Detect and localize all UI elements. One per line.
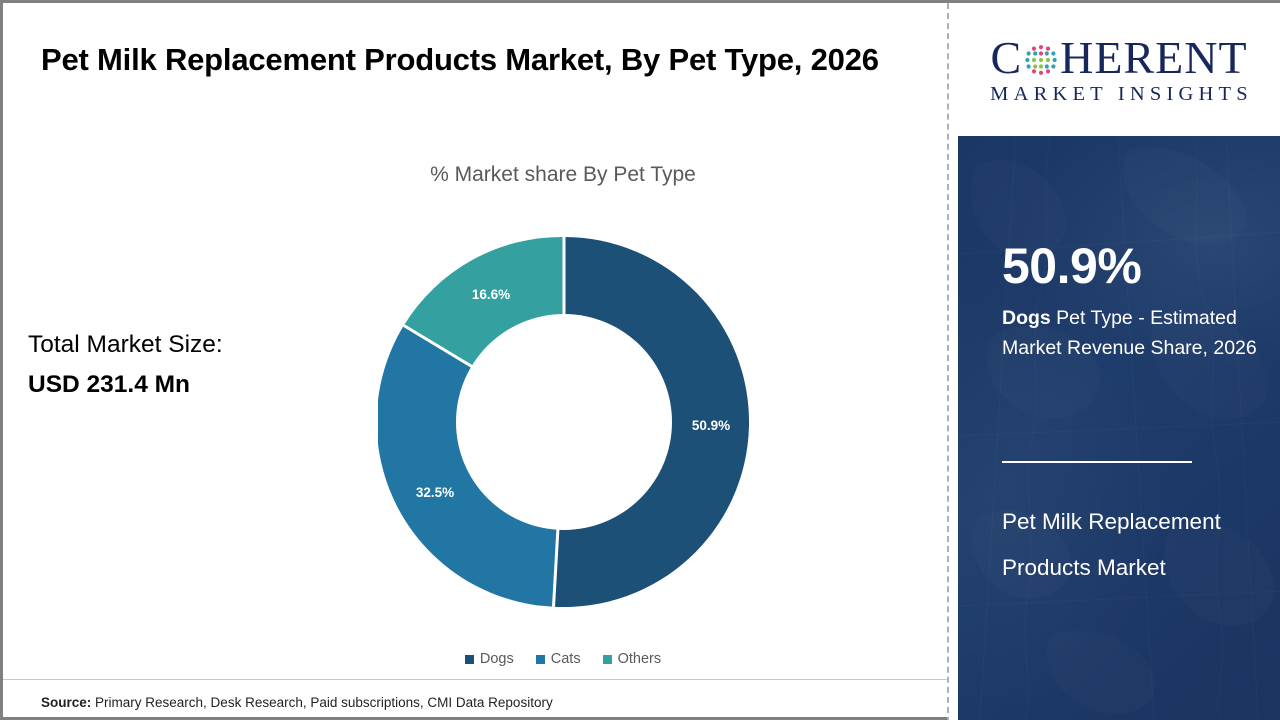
donut-chart: 50.9% 32.5% 16.6% bbox=[378, 235, 750, 609]
dotted-globe-icon bbox=[1023, 42, 1059, 78]
highlight-panel: 50.9% Dogs Pet Type - Estimated Market R… bbox=[958, 136, 1280, 720]
donut-chart-svg: 50.9% 32.5% 16.6% bbox=[378, 235, 750, 609]
chart-pane: Pet Milk Replacement Products Market, By… bbox=[3, 3, 947, 720]
legend-swatch-icon bbox=[536, 655, 545, 664]
page-title: Pet Milk Replacement Products Market, By… bbox=[41, 35, 901, 85]
footer-divider bbox=[3, 679, 947, 680]
chart-subtitle: % Market share By Pet Type bbox=[293, 163, 833, 187]
total-market-size-block: Total Market Size: USD 231.4 Mn bbox=[28, 325, 358, 404]
donut-center-hole bbox=[456, 314, 672, 530]
legend-label-others: Others bbox=[618, 651, 662, 667]
source-label: Source: bbox=[41, 695, 91, 710]
stat-description: Dogs Pet Type - Estimated Market Revenue… bbox=[1002, 304, 1264, 363]
total-market-label: Total Market Size: bbox=[28, 331, 223, 358]
stat-description-strong: Dogs bbox=[1002, 307, 1051, 329]
stat-value: 50.9% bbox=[1002, 241, 1141, 291]
donut-label-cats: 32.5% bbox=[416, 485, 454, 500]
brand-logo[interactable]: C bbox=[955, 5, 1280, 136]
total-market-value: USD 231.4 Mn bbox=[28, 365, 358, 405]
legend-swatch-icon bbox=[465, 655, 474, 664]
legend-label-cats: Cats bbox=[551, 651, 581, 667]
world-map-texture bbox=[958, 136, 1280, 720]
report-name: Pet Milk Replacement Products Market bbox=[1002, 499, 1272, 590]
logo-word-coherent: HERENT bbox=[1060, 35, 1247, 81]
legend-item-dogs[interactable]: Dogs bbox=[465, 651, 514, 667]
legend-item-cats[interactable]: Cats bbox=[536, 651, 581, 667]
logo-tagline: MARKET INSIGHTS bbox=[985, 83, 1253, 106]
panel-divider bbox=[1002, 461, 1192, 463]
chart-legend: Dogs Cats Others bbox=[293, 651, 833, 667]
right-column: C bbox=[955, 3, 1280, 720]
legend-label-dogs: Dogs bbox=[480, 651, 514, 667]
source-text: Primary Research, Desk Research, Paid su… bbox=[95, 695, 553, 710]
legend-swatch-icon bbox=[603, 655, 612, 664]
donut-label-dogs: 50.9% bbox=[692, 418, 730, 433]
source-note: Source: Primary Research, Desk Research,… bbox=[41, 695, 553, 710]
logo-letter-c: C bbox=[990, 35, 1022, 81]
vertical-dashed-divider bbox=[947, 3, 949, 720]
infographic-canvas: Pet Milk Replacement Products Market, By… bbox=[0, 0, 1280, 720]
legend-item-others[interactable]: Others bbox=[603, 651, 662, 667]
logo-wordmark: C bbox=[990, 35, 1247, 81]
donut-label-others: 16.6% bbox=[472, 287, 510, 302]
